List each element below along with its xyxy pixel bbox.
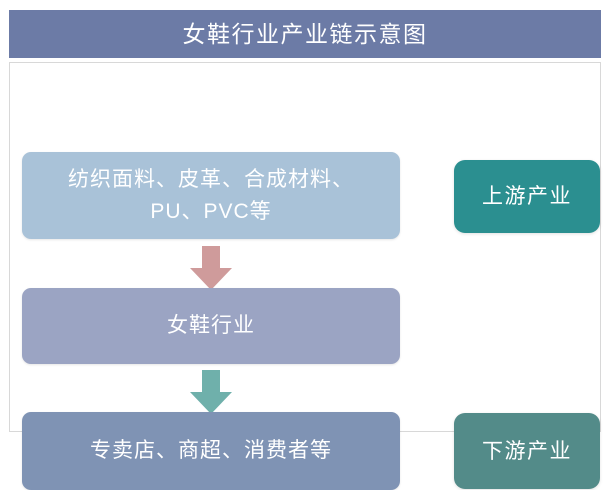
chain-node-upstream-materials-line2: PU、PVC等	[150, 200, 271, 223]
diagram-title-bar: 女鞋行业产业链示意图	[9, 10, 601, 58]
stage-tag-upstream-label: 上游产业	[482, 186, 572, 207]
chain-node-upstream-materials-line1: 纺织面料、皮革、合成材料、	[68, 168, 354, 191]
chain-node-upstream-materials-label: 纺织面料、皮革、合成材料、 PU、PVC等	[60, 164, 362, 228]
diagram-panel: 纺织面料、皮革、合成材料、 PU、PVC等 女鞋行业 专卖店、商超、消费者等 上…	[9, 62, 601, 432]
chain-node-industry-label: 女鞋行业	[159, 310, 263, 342]
arrow-down-industry-to-channels	[190, 370, 232, 414]
chain-node-downstream-channels: 专卖店、商超、消费者等	[22, 412, 400, 490]
stage-tag-upstream: 上游产业	[454, 160, 600, 233]
stage-tag-downstream-label: 下游产业	[482, 441, 572, 462]
arrow-down-materials-to-industry	[190, 246, 232, 290]
chain-node-industry: 女鞋行业	[22, 288, 400, 364]
chain-node-upstream-materials: 纺织面料、皮革、合成材料、 PU、PVC等	[22, 152, 400, 239]
page-title: 女鞋行业产业链示意图	[183, 23, 428, 46]
stage-tag-downstream: 下游产业	[454, 413, 600, 489]
industry-chain-diagram: 女鞋行业产业链示意图 纺织面料、皮革、合成材料、 PU、PVC等 女鞋行业	[0, 0, 610, 440]
